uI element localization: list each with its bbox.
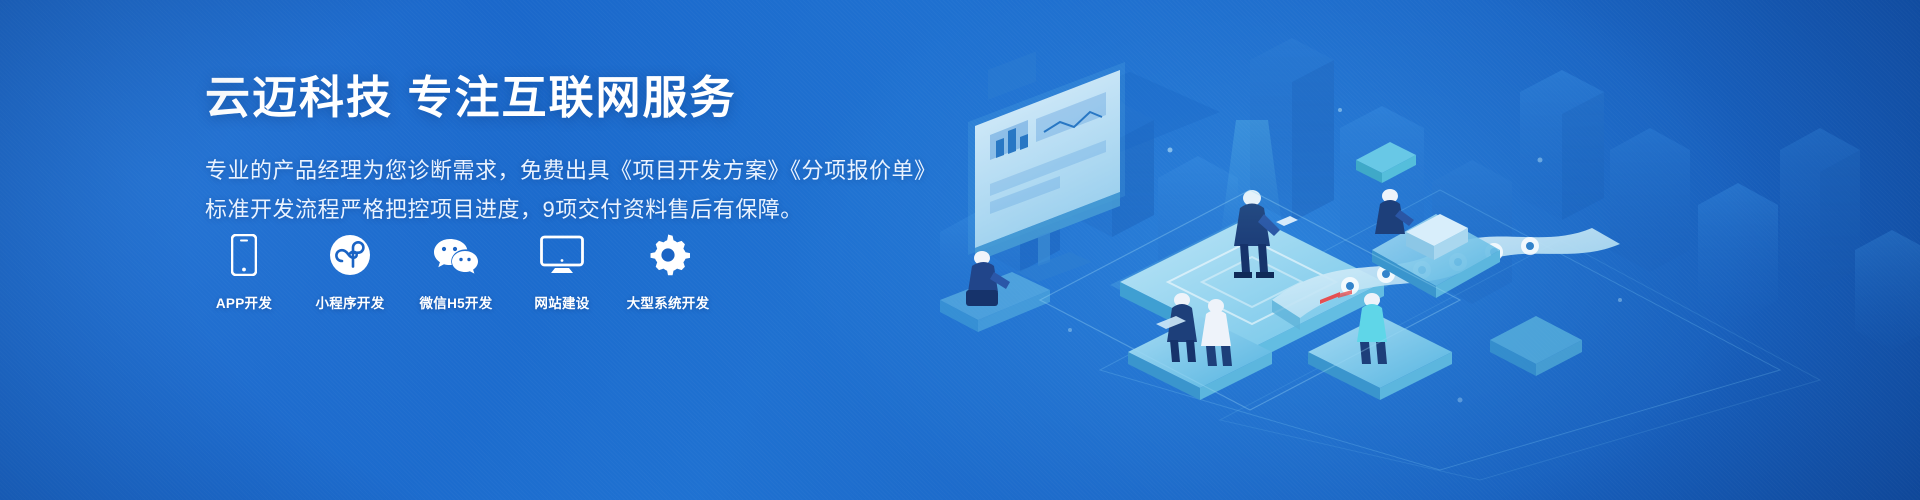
service-label: APP开发 — [216, 292, 272, 312]
subtitle-line-2: 标准开发流程严格把控项目进度，9项交付资料售后有保障。 — [205, 191, 905, 230]
subtitle-block: 专业的产品经理为您诊断需求，免费出具《项目开发方案》《分项报价单》 标准开发流程… — [205, 152, 905, 229]
mini-program-icon — [329, 232, 371, 278]
isometric-illustration — [920, 0, 1920, 500]
hero-banner: 云迈科技 专注互联网服务 专业的产品经理为您诊断需求，免费出具《项目开发方案》《… — [0, 0, 1920, 500]
service-item-website[interactable]: 网站建设 — [523, 232, 601, 312]
page-title: 云迈科技 专注互联网服务 — [205, 70, 905, 126]
mobile-phone-icon — [231, 232, 257, 278]
service-label: 小程序开发 — [316, 292, 385, 312]
service-label: 大型系统开发 — [627, 292, 710, 312]
service-item-system[interactable]: 大型系统开发 — [629, 232, 707, 312]
service-label: 微信H5开发 — [419, 292, 492, 312]
monitor-icon — [540, 232, 584, 278]
service-list: APP开发 小程序开发 — [205, 232, 707, 312]
hero-copy: 云迈科技 专注互联网服务 专业的产品经理为您诊断需求，免费出具《项目开发方案》《… — [205, 70, 905, 229]
service-item-miniprogram[interactable]: 小程序开发 — [311, 232, 389, 312]
subtitle-line-1: 专业的产品经理为您诊断需求，免费出具《项目开发方案》《分项报价单》 — [205, 152, 905, 191]
wechat-icon — [432, 232, 480, 278]
server-blocks — [1490, 316, 1582, 376]
service-label: 网站建设 — [534, 292, 589, 312]
service-item-app[interactable]: APP开发 — [205, 232, 283, 312]
gear-icon — [646, 232, 690, 278]
service-item-wechat[interactable]: 微信H5开发 — [417, 232, 495, 312]
